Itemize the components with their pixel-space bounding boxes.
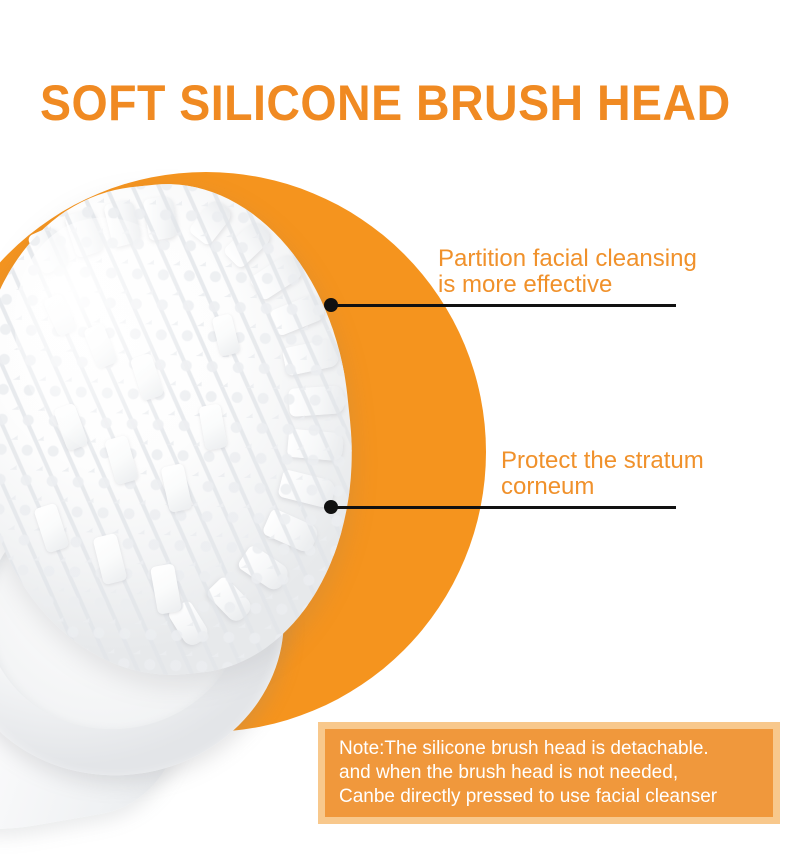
callout-line-partition <box>331 304 676 307</box>
callout-label-partition: Partition facial cleansing is more effec… <box>438 246 738 298</box>
callout-label-protect: Protect the stratum corneum <box>501 448 781 500</box>
note-box: Note:The silicone brush head is detachab… <box>318 722 780 824</box>
note-text: Note:The silicone brush head is detachab… <box>339 737 759 809</box>
infographic-canvas: SOFT SILICONE BRUSH HEAD <box>0 0 790 860</box>
callout-line-protect <box>331 506 676 509</box>
note-box-inner: Note:The silicone brush head is detachab… <box>325 729 773 817</box>
page-title: SOFT SILICONE BRUSH HEAD <box>40 74 710 132</box>
product-image-brush-head <box>0 175 360 695</box>
